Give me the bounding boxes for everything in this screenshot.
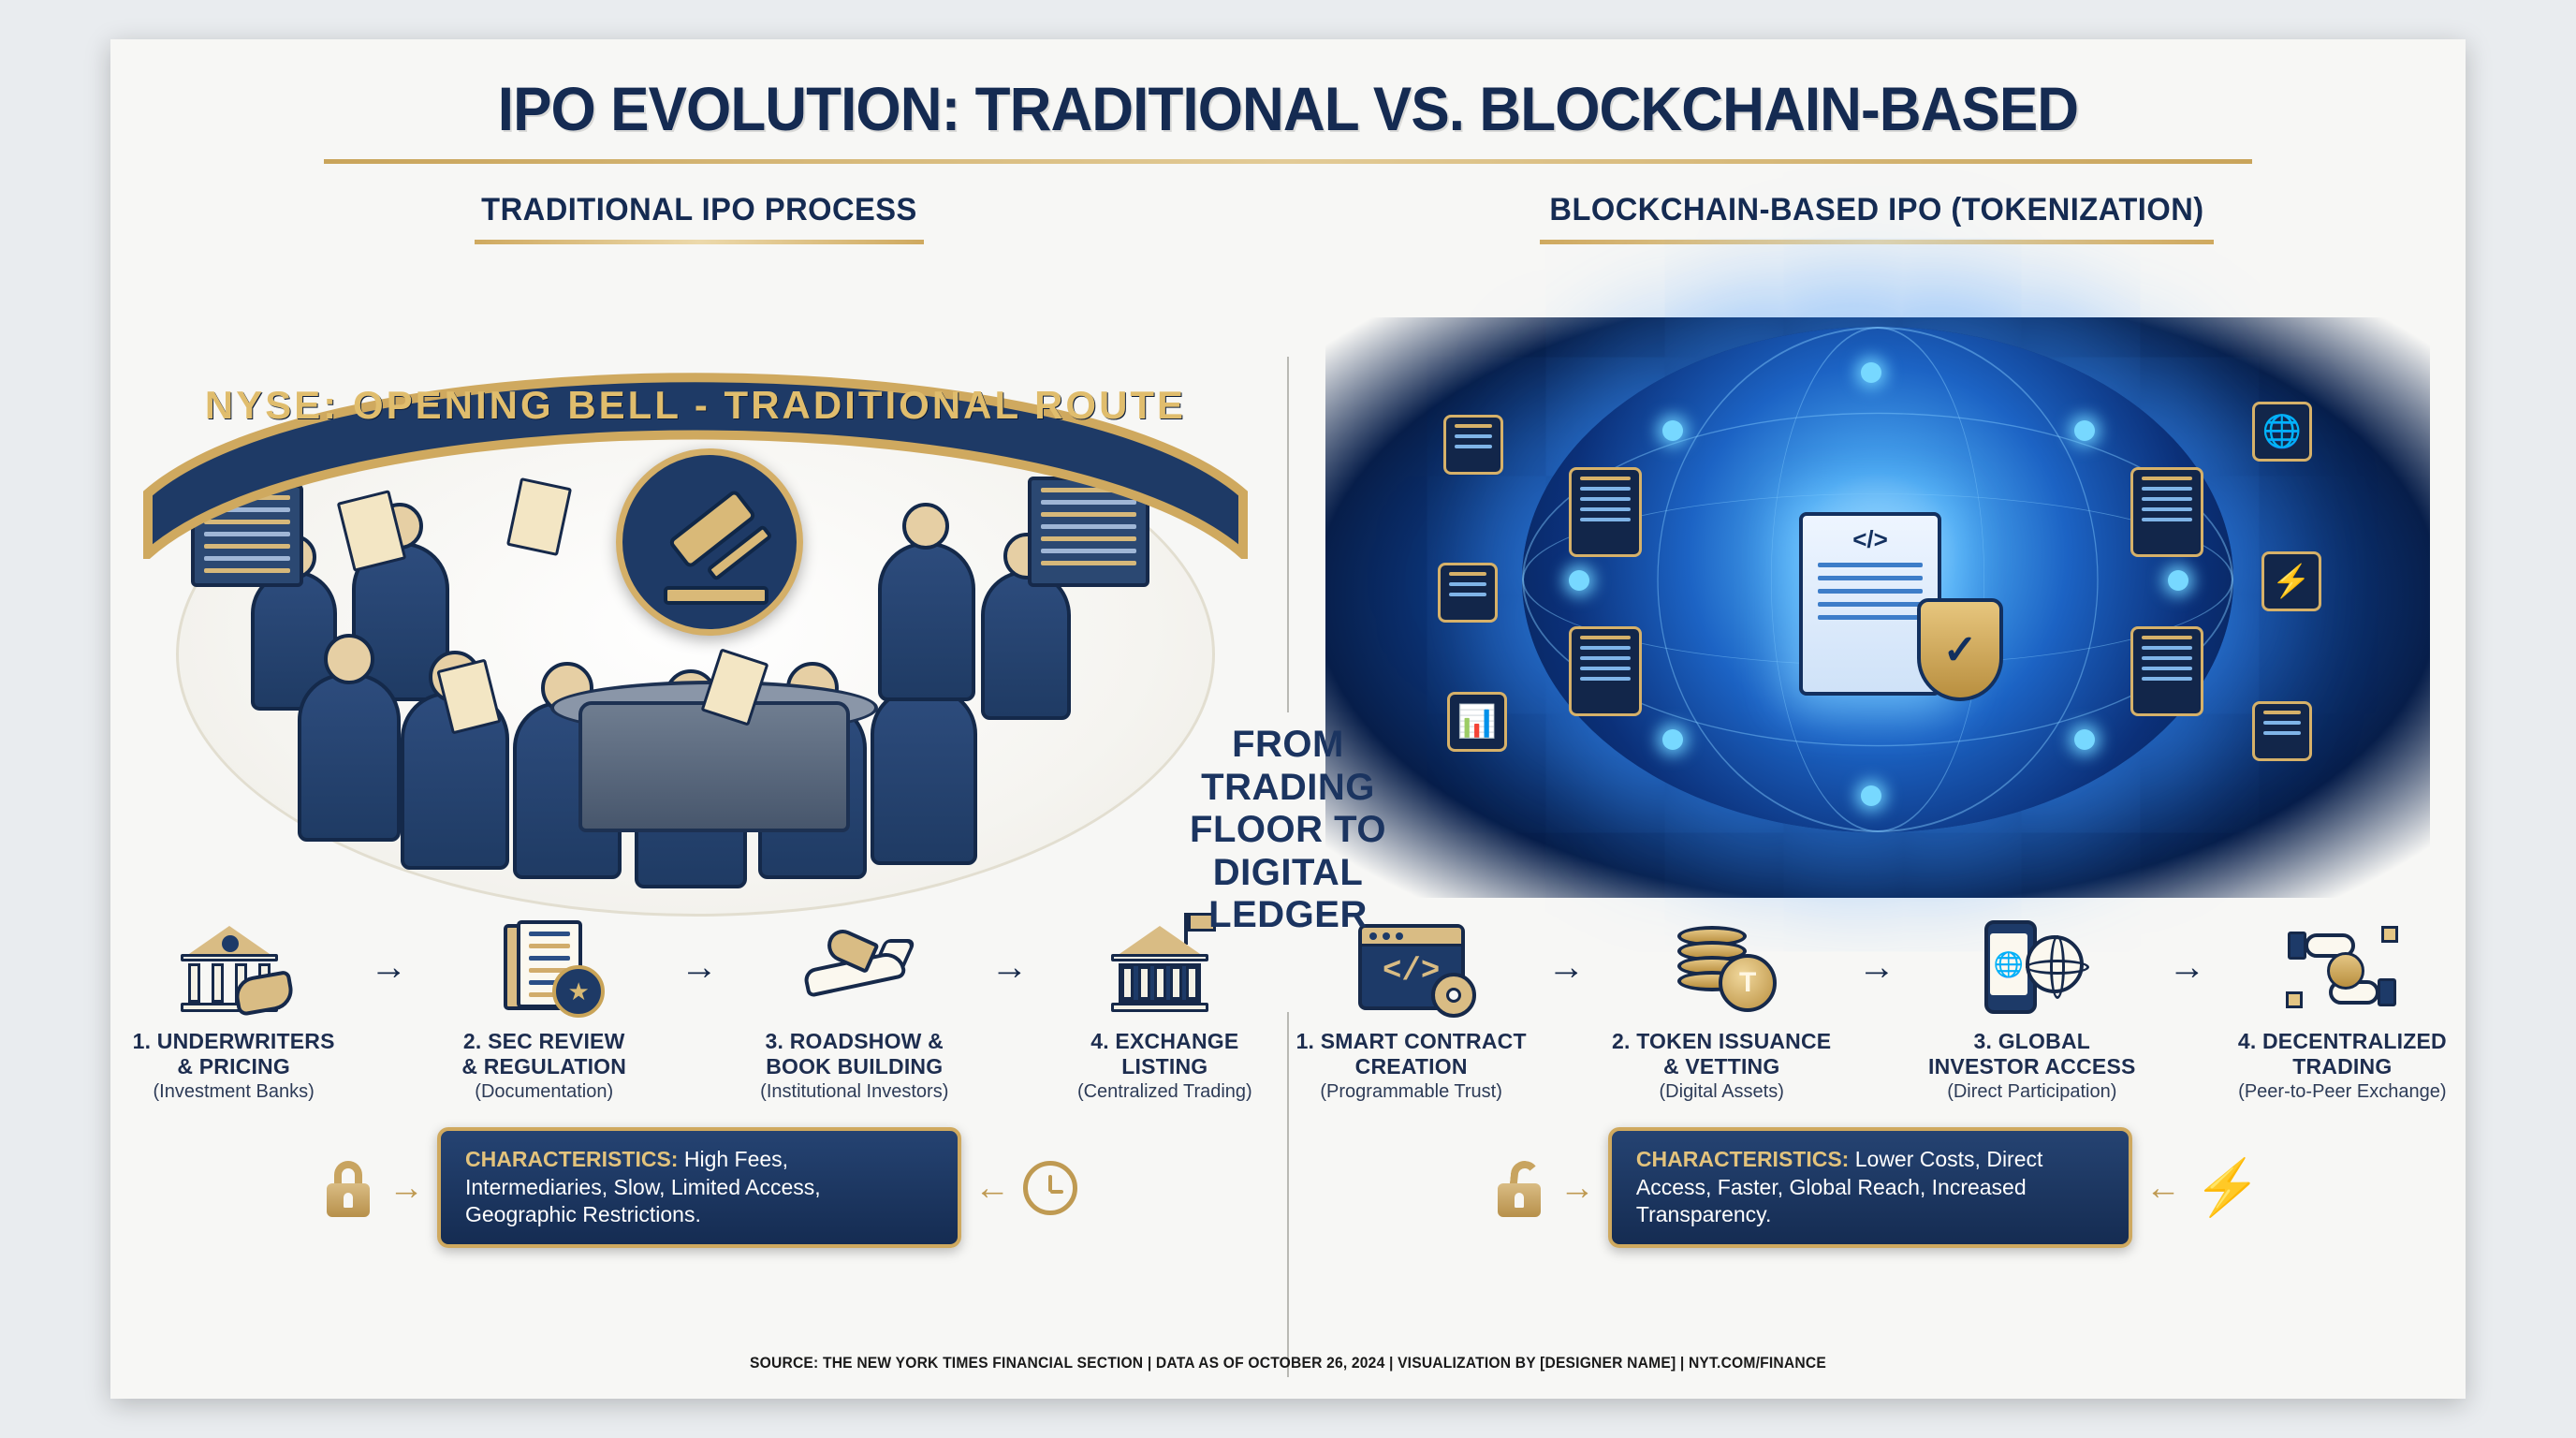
step-title: 1. UNDERWRITERS & PRICING [110,1029,357,1078]
left-column-heading: TRADITIONAL IPO PROCESS [134,192,1265,228]
step-smart-contract-creation[interactable]: </> 1. SMART CONTRACT CREATION (Programm… [1288,911,1534,1103]
step-title: 2. SEC REVIEW & REGULATION [421,1029,667,1078]
left-steps-row: 1. UNDERWRITERS & PRICING (Investment Ba… [110,911,1288,1103]
step-token-issuance[interactable]: T 2. TOKEN ISSUANCE & VETTING (Digital A… [1599,911,1845,1103]
token-coins-icon: T [1599,911,1845,1023]
step-title: 1. SMART CONTRACT CREATION [1288,1029,1534,1078]
left-heading-rule [475,240,924,244]
right-column-heading: BLOCKCHAIN-BASED IPO (TOKENIZATION) [1311,192,2442,228]
step-global-investor-access[interactable]: 🌐 3. GLOBAL INVESTOR ACCESS (Direct Part… [1909,911,2155,1103]
gavel-block-icon [664,586,768,605]
arrow-left-icon: ← [974,1170,1010,1206]
airplane-icon [731,911,977,1023]
bank-handshake-icon [110,911,357,1023]
step-subtitle: (Direct Participation) [1909,1081,2155,1103]
column-traditional: TRADITIONAL IPO PROCESS [110,164,1288,1248]
right-characteristics-row: → CHARACTERISTICS: Lower Costs, Direct A… [1288,1127,2466,1247]
step-sec-review[interactable]: ★ 2. SEC REVIEW & REGULATION (Documentat… [421,911,667,1103]
right-heading-rule [1540,240,2214,244]
ledger-document-icon [2130,467,2203,557]
banner-ribbon-shape [139,344,1252,559]
document-sec-seal-icon: ★ [421,911,667,1023]
closed-padlock-icon [321,1157,375,1219]
network-node-chip-icon [1443,415,1503,475]
trader-figure [878,542,975,701]
peer-to-peer-hands-icon [2219,911,2466,1023]
step-decentralized-trading[interactable]: 4. DECENTRALIZED TRADING (Peer-to-Peer E… [2219,911,2466,1103]
step-subtitle: (Digital Assets) [1599,1081,1845,1103]
infographic-poster: IPO EVOLUTION: TRADITIONAL VS. BLOCKCHAI… [110,39,2466,1399]
lightning-bolt-icon: ⚡ [2194,1161,2261,1215]
step-exchange-listing[interactable]: 4. EXCHANGE LISTING (Centralized Trading… [1042,911,1288,1103]
arrow-right-icon: → [1559,1170,1595,1206]
step-subtitle: (Institutional Investors) [731,1081,977,1103]
open-padlock-icon [1492,1157,1546,1219]
step-title: 4. EXCHANGE LISTING [1042,1029,1288,1078]
lightning-node-icon: ⚡ [2261,551,2321,611]
trader-figure [871,687,977,865]
left-characteristics-row: → CHARACTERISTICS: High Fees, Intermedia… [110,1127,1288,1247]
step-subtitle: (Centralized Trading) [1042,1081,1288,1103]
divider-label: FROM TRADING FLOOR TO DIGITAL LEDGER [1185,724,1391,937]
step-underwriters-pricing[interactable]: 1. UNDERWRITERS & PRICING (Investment Ba… [110,911,357,1103]
center-divider: FROM TRADING FLOOR TO DIGITAL LEDGER [1286,357,1290,1377]
shield-check-icon: ✓ [1917,598,2003,701]
step-title: 4. DECENTRALIZED TRADING [2219,1029,2466,1078]
step-subtitle: (Investment Banks) [110,1081,357,1103]
step-roadshow-bookbuilding[interactable]: 3. ROADSHOW & BOOK BUILDING (Institution… [731,911,977,1103]
arrow-right-icon: → [1845,911,1909,1023]
trader-figure [981,570,1071,720]
globe-node-icon: 🌐 [2252,402,2312,462]
right-steps-row: </> 1. SMART CONTRACT CREATION (Programm… [1288,911,2466,1103]
step-title: 3. ROADSHOW & BOOK BUILDING [731,1029,977,1078]
right-characteristics-box: CHARACTERISTICS: Lower Costs, Direct Acc… [1608,1127,2132,1247]
chart-node-icon: 📊 [1447,692,1507,752]
blockchain-network-illustration: 🌐 ⚡ 📊 </> ✓ [1288,261,2466,907]
trading-floor-illustration: NYSE: OPENING BELL - TRADITIONAL ROUTE [110,261,1288,907]
arrow-right-icon: → [357,911,420,1023]
step-title: 2. TOKEN ISSUANCE & VETTING [1599,1029,1845,1078]
trader-head [324,634,374,684]
step-title: 3. GLOBAL INVESTOR ACCESS [1909,1029,2155,1078]
characteristics-label: CHARACTERISTICS: [1636,1147,1849,1171]
arrow-right-icon: → [388,1170,424,1206]
trading-post [578,701,850,832]
step-subtitle: (Documentation) [421,1081,667,1103]
mobile-globe-icon: 🌐 [1909,911,2155,1023]
characteristics-label: CHARACTERISTICS: [465,1147,678,1171]
column-blockchain: BLOCKCHAIN-BASED IPO (TOKENIZATION) [1288,164,2466,1248]
ledger-document-icon [1569,626,1642,716]
arrow-left-icon: ← [2145,1170,2181,1206]
step-subtitle: (Peer-to-Peer Exchange) [2219,1081,2466,1103]
network-node-chip-icon [2252,701,2312,761]
ledger-document-icon [2130,626,2203,716]
footer-source: SOURCE: THE NEW YORK TIMES FINANCIAL SEC… [205,1354,2372,1372]
arrow-right-icon: → [1534,911,1598,1023]
two-column-comparison: TRADITIONAL IPO PROCESS [110,164,2466,1248]
trader-figure [298,673,401,842]
arrow-right-icon: → [2155,911,2218,1023]
step-subtitle: (Programmable Trust) [1288,1081,1534,1103]
arrow-right-icon: → [977,911,1041,1023]
nyse-banner: NYSE: OPENING BELL - TRADITIONAL ROUTE [139,344,1252,559]
arrow-right-icon: → [667,911,731,1023]
page-title: IPO EVOLUTION: TRADITIONAL VS. BLOCKCHAI… [181,73,2394,144]
left-characteristics-box: CHARACTERISTICS: High Fees, Intermediari… [437,1127,961,1247]
network-node-chip-icon [1438,563,1498,623]
nyse-banner-text: NYSE: OPENING BELL - TRADITIONAL ROUTE [139,383,1252,428]
clock-icon [1023,1161,1077,1215]
ledger-document-icon [1569,467,1642,557]
